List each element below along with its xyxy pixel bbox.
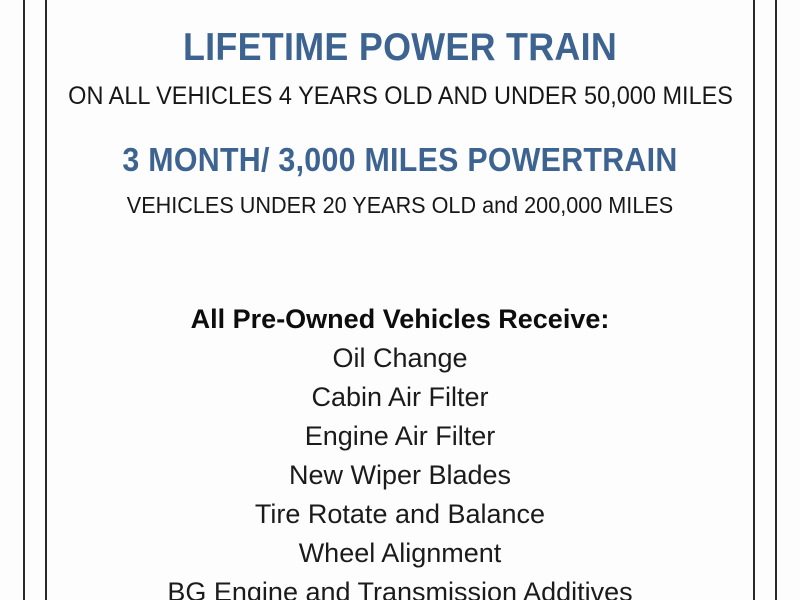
- services-list: Oil Change Cabin Air Filter Engine Air F…: [47, 339, 753, 600]
- flyer-content: LIFETIME POWER TRAIN ON ALL VEHICLES 4 Y…: [47, 0, 753, 600]
- service-item: Cabin Air Filter: [47, 378, 753, 417]
- service-item: Oil Change: [47, 339, 753, 378]
- warranty-flyer: LIFETIME POWER TRAIN ON ALL VEHICLES 4 Y…: [0, 0, 800, 600]
- services-section-title: All Pre-Owned Vehicles Receive:: [47, 300, 753, 339]
- three-month-powertrain-subhead: VEHICLES UNDER 20 YEARS OLD and 200,000 …: [68, 192, 732, 218]
- service-item: Wheel Alignment: [47, 534, 753, 573]
- lifetime-powertrain-subhead: ON ALL VEHICLES 4 YEARS OLD AND UNDER 50…: [68, 82, 732, 110]
- lifetime-powertrain-headline: LIFETIME POWER TRAIN: [75, 27, 725, 69]
- frame-rule-right-inner: [753, 0, 755, 600]
- services-section: All Pre-Owned Vehicles Receive: Oil Chan…: [47, 300, 753, 600]
- frame-rule-left-outer: [23, 0, 25, 600]
- frame-rule-right-outer: [775, 0, 777, 600]
- service-item: Tire Rotate and Balance: [47, 495, 753, 534]
- service-item: New Wiper Blades: [47, 456, 753, 495]
- three-month-powertrain-headline: 3 MONTH/ 3,000 MILES POWERTRAIN: [75, 142, 725, 178]
- service-item: BG Engine and Transmission Additives: [47, 573, 753, 600]
- service-item: Engine Air Filter: [47, 417, 753, 456]
